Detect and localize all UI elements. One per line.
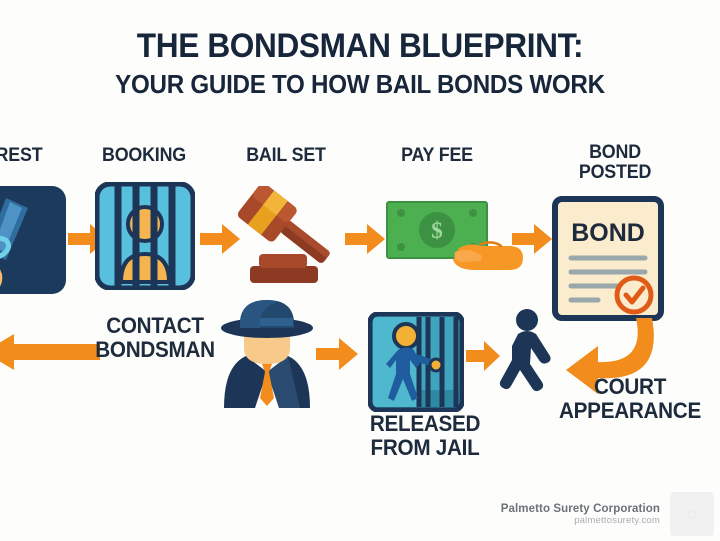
infographic-canvas: THE BONDSMAN BLUEPRINT: YOUR GUIDE TO HO…	[0, 0, 720, 541]
label-contact-bondsman: CONTACT BONDSMAN	[80, 314, 230, 362]
footer-logo: ◌	[670, 492, 714, 536]
icon-bondsman	[216, 296, 318, 408]
page-subtitle: YOUR GUIDE TO HOW BAIL BONDS WORK	[25, 70, 695, 99]
footer-logo-glyph: ◌	[670, 492, 714, 536]
footer-company-name: Palmetto Surety Corporation	[468, 503, 660, 515]
title-block: THE BONDSMAN BLUEPRINT: YOUR GUIDE TO HO…	[0, 28, 720, 99]
footer: Palmetto Surety Corporation palmettosure…	[468, 492, 714, 536]
step-label-pay-fee: PAY FEE	[385, 146, 488, 166]
released-line1: RELEASED	[359, 412, 491, 436]
arrow-payfee-to-bond	[512, 222, 552, 261]
arrow-released-to-court	[466, 340, 500, 377]
icon-released-from-jail	[368, 312, 464, 412]
contact-bondsman-line2: BONDSMAN	[80, 338, 230, 362]
icon-bond-document: BOND	[552, 196, 664, 321]
arrow-bondsman-to-released	[316, 336, 358, 377]
icon-booking	[95, 182, 195, 290]
footer-website[interactable]: palmettosurety.com	[468, 515, 660, 526]
step-label-booking: BOOKING	[89, 146, 198, 166]
bond-document-heading: BOND	[571, 219, 645, 247]
step-label-bail-set: BAIL SET	[231, 146, 340, 166]
contact-bondsman-line1: CONTACT	[80, 314, 230, 338]
bond-posted-line1: BOND	[559, 143, 672, 163]
released-line2: FROM JAIL	[359, 436, 491, 460]
bond-posted-line2: POSTED	[559, 163, 672, 183]
label-released-from-jail: RELEASED FROM JAIL	[359, 412, 491, 460]
icon-pay-fee: $	[385, 196, 525, 288]
icon-arrest	[0, 186, 66, 294]
step-label-arrest: REST	[0, 146, 71, 166]
label-court-appearance: COURT APPEARANCE	[550, 375, 710, 423]
court-line2: APPEARANCE	[550, 399, 710, 423]
svg-text:$: $	[431, 218, 443, 243]
page-title: THE BONDSMAN BLUEPRINT:	[25, 28, 695, 65]
icon-gavel	[232, 186, 338, 292]
step-label-bond-posted: BOND POSTED	[559, 143, 672, 183]
arrow-bail-to-payfee	[345, 222, 385, 261]
court-line1: COURT	[550, 375, 710, 399]
